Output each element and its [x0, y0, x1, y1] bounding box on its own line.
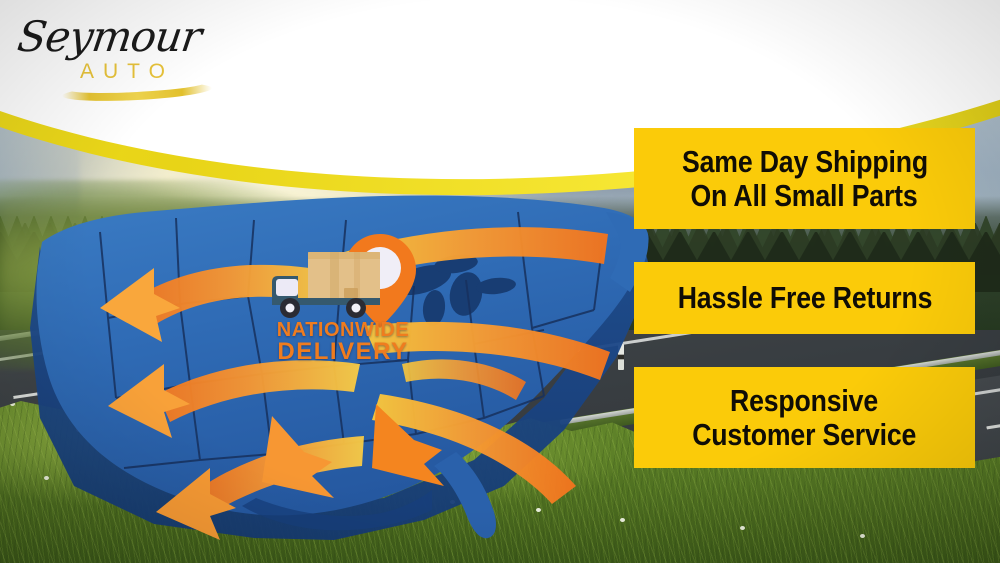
feature-line: On All Small Parts	[691, 179, 918, 212]
wildflower	[860, 534, 865, 538]
logo-wordmark: Seymour	[15, 12, 204, 61]
feature-box-hassle-free-returns[interactable]: Hassle Free Returns	[634, 262, 975, 334]
feature-line: Responsive	[731, 384, 879, 417]
logo-subtitle: AUTO	[80, 60, 174, 84]
feature-line: Hassle Free Returns	[677, 281, 932, 314]
feature-box-responsive-customer-service[interactable]: Responsive Customer Service	[634, 367, 975, 468]
delivery-badge-text: NATIONWIDE DELIVERY	[268, 320, 418, 364]
brand-logo[interactable]: Seymour AUTO	[18, 12, 218, 100]
delivery-truck-icon	[272, 252, 380, 318]
feature-box-same-day-shipping[interactable]: Same Day Shipping On All Small Parts	[634, 128, 975, 229]
wildflower	[740, 526, 745, 530]
delivery-line-2: DELIVERY	[277, 338, 408, 365]
nationwide-delivery-badge: NATIONWIDE DELIVERY	[268, 232, 428, 377]
feature-line: Customer Service	[693, 418, 917, 451]
promo-banner: Seymour AUTO	[0, 0, 1000, 563]
feature-line: Same Day Shipping	[682, 145, 928, 178]
